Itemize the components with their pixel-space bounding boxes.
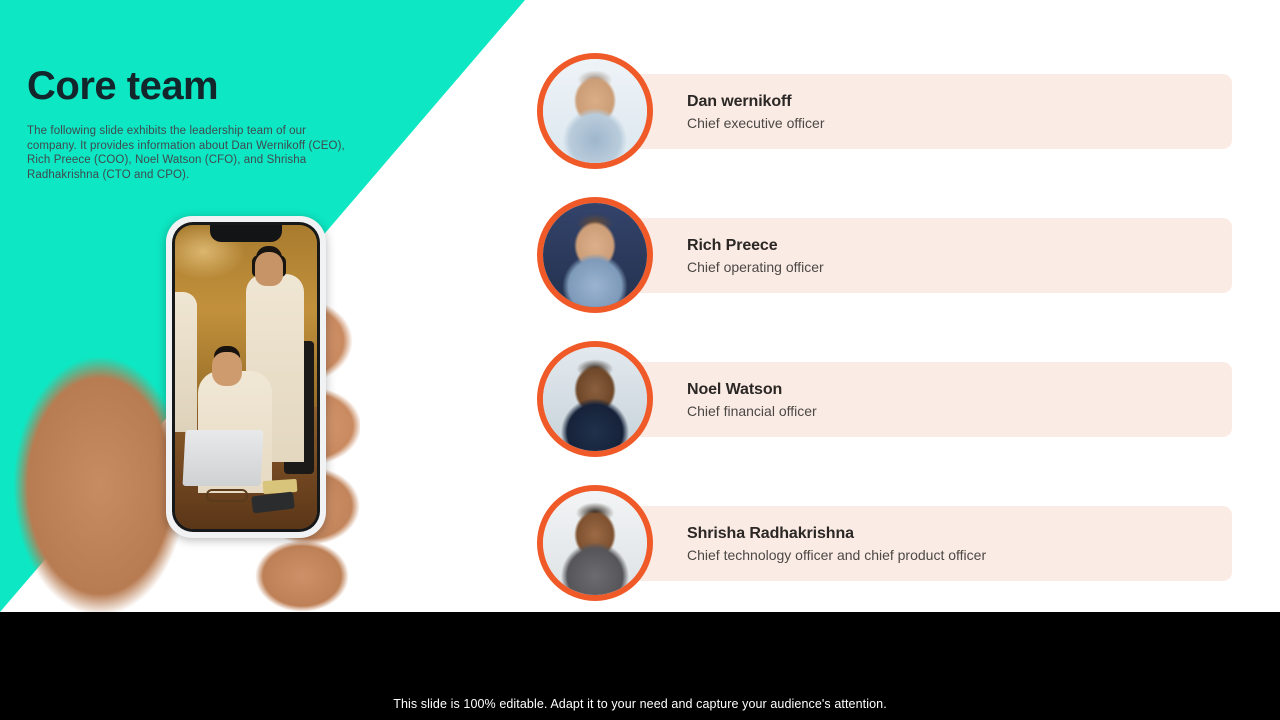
member-card-text: Noel Watson Chief financial officer xyxy=(687,379,817,421)
avatar xyxy=(537,341,653,457)
member-card-text: Shrisha Radhakrishna Chief technology of… xyxy=(687,523,986,565)
footer-bar: This slide is 100% editable. Adapt it to… xyxy=(0,612,1280,720)
slide-canvas: Core team The following slide exhibits t… xyxy=(0,0,1280,612)
phone-notch-icon xyxy=(210,225,282,242)
avatar-portrait-icon xyxy=(543,347,647,451)
member-role: Chief executive officer xyxy=(687,113,824,133)
phone-bezel xyxy=(172,222,320,532)
photo-glasses xyxy=(206,489,248,502)
avatar xyxy=(537,53,653,169)
member-card[interactable]: Rich Preece Chief operating officer xyxy=(595,218,1232,293)
member-role: Chief financial officer xyxy=(687,401,817,421)
member-name: Dan wernikoff xyxy=(687,91,824,112)
member-role: Chief technology officer and chief produ… xyxy=(687,545,986,565)
member-name: Rich Preece xyxy=(687,235,824,256)
photo-laptop xyxy=(182,430,263,486)
phone-screen-photo xyxy=(175,225,317,529)
team-member-list: Dan wernikoff Chief executive officer Ri… xyxy=(537,53,1237,601)
avatar xyxy=(537,485,653,601)
avatar-portrait-icon xyxy=(543,59,647,163)
list-item[interactable]: Rich Preece Chief operating officer xyxy=(537,197,1237,313)
list-item[interactable]: Shrisha Radhakrishna Chief technology of… xyxy=(537,485,1237,601)
list-item[interactable]: Noel Watson Chief financial officer xyxy=(537,341,1237,457)
footer-note: This slide is 100% editable. Adapt it to… xyxy=(0,697,1280,711)
slide-root: Core team The following slide exhibits t… xyxy=(0,0,1280,720)
left-text-block: Core team The following slide exhibits t… xyxy=(27,62,372,182)
slide-description: The following slide exhibits the leaders… xyxy=(27,124,357,182)
photo-person-standing-head xyxy=(255,252,283,286)
photo-person-left xyxy=(175,292,197,432)
list-item[interactable]: Dan wernikoff Chief executive officer xyxy=(537,53,1237,169)
member-card[interactable]: Noel Watson Chief financial officer xyxy=(595,362,1232,437)
member-name: Shrisha Radhakrishna xyxy=(687,523,986,544)
member-card-text: Rich Preece Chief operating officer xyxy=(687,235,824,277)
photo-person-seated-head xyxy=(212,352,242,386)
page-title: Core team xyxy=(27,62,372,110)
hand-phone-illustration xyxy=(0,196,420,612)
member-card[interactable]: Dan wernikoff Chief executive officer xyxy=(595,74,1232,149)
photo-notepad xyxy=(263,478,298,493)
member-name: Noel Watson xyxy=(687,379,817,400)
member-card[interactable]: Shrisha Radhakrishna Chief technology of… xyxy=(595,506,1232,581)
avatar xyxy=(537,197,653,313)
member-role: Chief operating officer xyxy=(687,257,824,277)
avatar-portrait-icon xyxy=(543,491,647,595)
avatar-portrait-icon xyxy=(543,203,647,307)
phone-mockup xyxy=(166,216,326,538)
member-card-text: Dan wernikoff Chief executive officer xyxy=(687,91,824,133)
